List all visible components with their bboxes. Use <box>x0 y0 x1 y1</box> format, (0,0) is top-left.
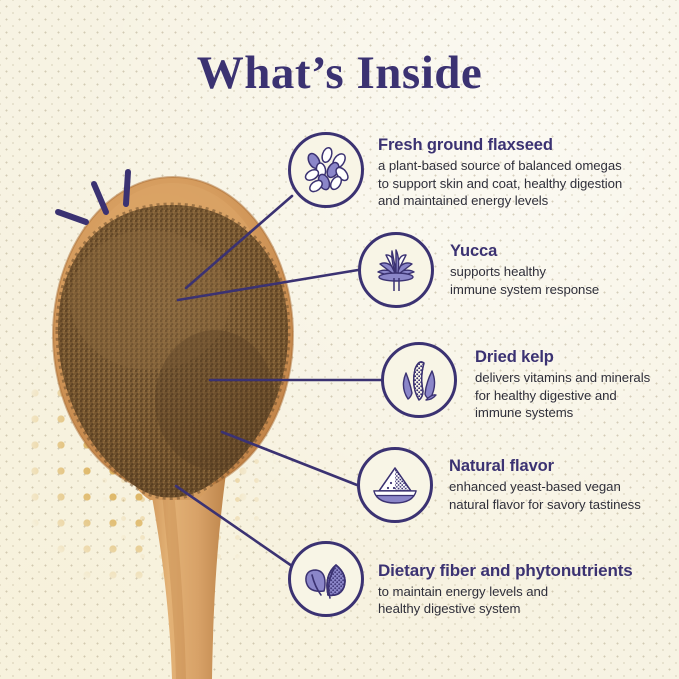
kelp-body: delivers vitamins and minerals for healt… <box>475 369 650 422</box>
connector-fiber <box>176 486 292 566</box>
callout-flavor: Natural flavor enhanced yeast-based vega… <box>357 447 641 523</box>
connector-flavor <box>222 432 357 485</box>
flaxseed-cluster-icon <box>297 141 355 199</box>
kelp-badge <box>381 342 457 418</box>
callout-kelp: Dried kelp delivers vitamins and mineral… <box>381 342 650 422</box>
yucca-text: Yucca supports healthy immune system res… <box>450 232 599 298</box>
fiber-badge <box>288 541 364 617</box>
flaxseed-title: Fresh ground flaxseed <box>378 136 622 155</box>
flavor-title: Natural flavor <box>449 457 641 476</box>
kelp-title: Dried kelp <box>475 348 650 367</box>
yucca-plant-icon <box>368 242 424 298</box>
two-leaves-icon <box>298 551 354 607</box>
fiber-body: to maintain energy levels and healthy di… <box>378 583 633 618</box>
powder-bowl-icon <box>367 457 423 513</box>
connector-flaxseed <box>186 196 292 288</box>
flaxseed-text: Fresh ground flaxseed a plant-based sour… <box>378 132 622 210</box>
yucca-badge <box>358 232 434 308</box>
callout-flaxseed: Fresh ground flaxseed a plant-based sour… <box>288 132 622 210</box>
flavor-text: Natural flavor enhanced yeast-based vega… <box>449 447 641 513</box>
page-title: What’s Inside <box>0 46 679 100</box>
flavor-body: enhanced yeast-based vegan natural flavo… <box>449 478 641 513</box>
callout-yucca: Yucca supports healthy immune system res… <box>358 232 599 308</box>
yucca-body: supports healthy immune system response <box>450 263 599 298</box>
yucca-title: Yucca <box>450 242 599 261</box>
flaxseed-body: a plant-based source of balanced omegas … <box>378 157 622 210</box>
kelp-seaweed-icon <box>392 353 446 407</box>
fiber-text: Dietary fiber and phytonutrients to main… <box>378 541 633 618</box>
flavor-badge <box>357 447 433 523</box>
connector-yucca <box>178 270 358 300</box>
infographic-canvas: What’s Inside Fresh ground fla <box>0 0 679 679</box>
flaxseed-badge <box>288 132 364 208</box>
kelp-text: Dried kelp delivers vitamins and mineral… <box>475 342 650 422</box>
callout-fiber: Dietary fiber and phytonutrients to main… <box>288 541 633 618</box>
fiber-title: Dietary fiber and phytonutrients <box>378 561 633 581</box>
